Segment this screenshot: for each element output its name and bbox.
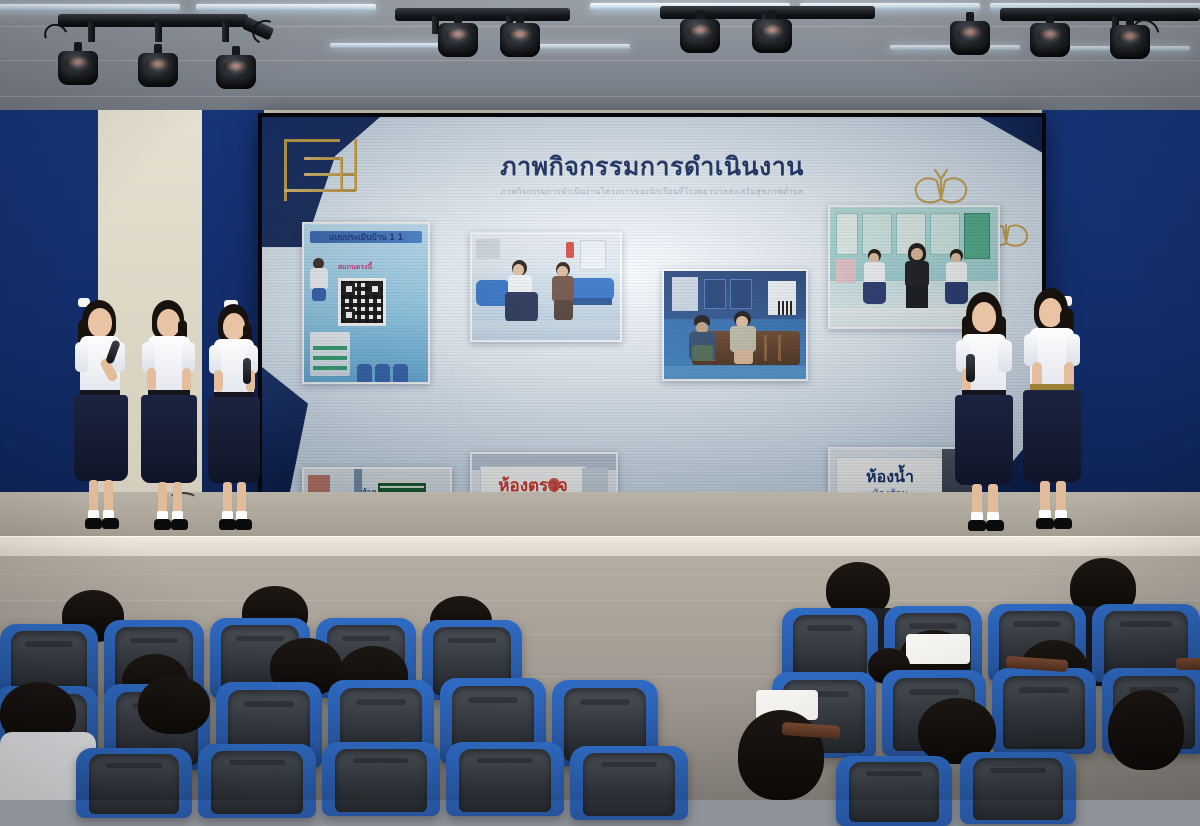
slide-photo-poster-qr: แบบประเมินบ้าน 1 1 สแกนตรงนี้ bbox=[302, 222, 430, 384]
audience-head bbox=[138, 676, 210, 734]
led-screen: ภาพกิจกรรมการดำเนินงาน ภาพกิจกรรมการดำเน… bbox=[258, 113, 1046, 498]
audience-head bbox=[1108, 690, 1184, 770]
head bbox=[157, 309, 180, 337]
microphone[interactable] bbox=[966, 354, 975, 382]
slide-photo-bench-1 bbox=[662, 269, 808, 381]
shoe bbox=[219, 519, 236, 530]
sleeve bbox=[998, 340, 1012, 372]
uniform-skirt bbox=[1023, 390, 1081, 482]
slide-title: ภาพกิจกรรมการดำเนินงาน bbox=[262, 147, 1042, 187]
presenter-5 bbox=[1022, 286, 1094, 536]
shoe bbox=[1054, 518, 1072, 529]
head bbox=[223, 313, 245, 340]
stage-light bbox=[680, 10, 720, 56]
ceiling-led-strip bbox=[330, 43, 450, 48]
presenter-4 bbox=[954, 290, 1024, 538]
sleeve bbox=[75, 342, 88, 372]
auditorium-seat[interactable] bbox=[446, 742, 564, 816]
stage-light bbox=[950, 12, 990, 58]
hair-bow bbox=[906, 634, 970, 664]
stage-light bbox=[1030, 14, 1070, 60]
head bbox=[972, 302, 996, 332]
auditorium-scene: ภาพกิจกรรมการดำเนินงาน ภาพกิจกรรมการดำเน… bbox=[0, 0, 1200, 800]
shoe bbox=[1036, 518, 1054, 529]
microphone[interactable] bbox=[243, 358, 251, 384]
auditorium-seat[interactable] bbox=[836, 756, 952, 826]
lighting-truss bbox=[58, 14, 248, 27]
ceiling bbox=[0, 0, 1200, 118]
exam-room-sign-title: ห้องตรวจ bbox=[480, 472, 586, 494]
presenter-2 bbox=[140, 298, 208, 536]
lighting-truss bbox=[395, 8, 570, 21]
qr-code bbox=[338, 278, 386, 326]
shoe bbox=[154, 519, 171, 530]
slide-photo-exam-room-sign: ห้องตรวจ ห้องกำนตรวจ bbox=[470, 452, 618, 494]
presenter-1 bbox=[72, 296, 140, 536]
ceiling-led-strip bbox=[196, 4, 376, 11]
auditorium-seat[interactable] bbox=[322, 742, 440, 816]
poster-caption-2: สแกนตรงนี้ bbox=[338, 262, 420, 273]
seat-armrest bbox=[1176, 658, 1200, 670]
uniform-skirt bbox=[74, 395, 128, 481]
stage-light bbox=[138, 44, 178, 90]
arm bbox=[214, 370, 223, 392]
head bbox=[1039, 298, 1062, 327]
auditorium-seat[interactable] bbox=[570, 746, 688, 820]
slide-photo-interview-clinic bbox=[470, 232, 622, 342]
uniform-skirt bbox=[955, 395, 1013, 485]
poster-caption: แบบประเมินบ้าน 1 1 bbox=[304, 230, 428, 244]
auditorium-seat[interactable] bbox=[76, 748, 192, 818]
auditorium-seat[interactable] bbox=[960, 752, 1076, 824]
stage-light bbox=[58, 42, 98, 88]
arm bbox=[182, 368, 191, 392]
arm bbox=[147, 368, 156, 392]
shoe bbox=[102, 518, 119, 529]
shoe bbox=[171, 519, 188, 530]
slide-photo-sign-install: ห้องยา bbox=[302, 467, 452, 494]
slide-subtitle: ภาพกิจกรรมการดำเนินงานโครงการของนักเรียน… bbox=[262, 185, 1042, 198]
shoe bbox=[968, 520, 986, 531]
qr-code bbox=[778, 301, 792, 315]
shoe bbox=[235, 519, 252, 530]
auditorium-seat[interactable] bbox=[198, 744, 316, 818]
stage-light bbox=[438, 14, 478, 60]
stage-light bbox=[752, 10, 792, 56]
uniform-skirt bbox=[141, 395, 197, 483]
auditorium-seat[interactable] bbox=[992, 668, 1096, 754]
head bbox=[88, 308, 112, 337]
stage-light bbox=[216, 46, 256, 92]
ceiling-led-strip bbox=[0, 4, 180, 11]
stage-light bbox=[1110, 16, 1150, 62]
shoe bbox=[85, 518, 102, 529]
shoe bbox=[986, 520, 1004, 531]
presenter-3 bbox=[206, 300, 272, 536]
stage-light bbox=[500, 14, 540, 60]
uniform-skirt bbox=[208, 397, 260, 483]
